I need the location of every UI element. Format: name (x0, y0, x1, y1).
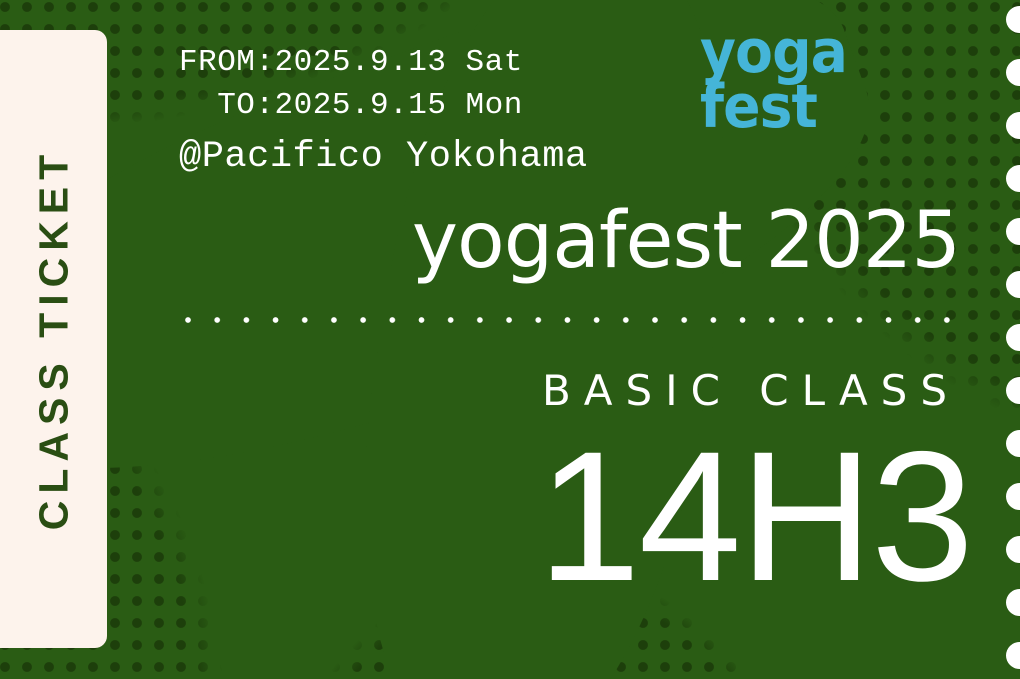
schedule-to-line: TO:2025.9.15 Mon (179, 84, 588, 127)
class-ticket: CLASS TICKET FROM:2025.9.13 Sat TO:2025.… (0, 0, 1020, 679)
event-title: yogafest 2025 (107, 196, 960, 286)
schedule-from-line: FROM:2025.9.13 Sat (179, 41, 588, 84)
class-name: BASIC CLASS (107, 366, 960, 415)
ticket-stub: CLASS TICKET (0, 30, 107, 648)
yogafest-logo: yoga fest (700, 25, 847, 135)
venue-line: @Pacifico Yokohama (179, 132, 588, 184)
dotted-divider (185, 317, 960, 323)
logo-line-fest: fest (700, 80, 847, 135)
stub-label: CLASS TICKET (30, 148, 77, 530)
ticket-body: FROM:2025.9.13 Sat TO:2025.9.15 Mon @Pac… (107, 0, 1020, 679)
seat-code: 14H3 (107, 425, 972, 610)
schedule-block: FROM:2025.9.13 Sat TO:2025.9.15 Mon @Pac… (179, 41, 588, 184)
